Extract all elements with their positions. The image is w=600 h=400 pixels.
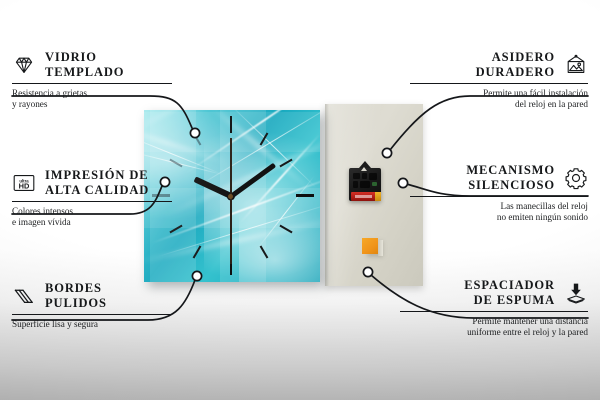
callout-title: ESPACIADOR DE ESPUMA (464, 278, 555, 307)
clock-mechanism (348, 166, 382, 202)
callout-rule (12, 83, 172, 84)
gear-icon (564, 166, 588, 190)
callout-head: ESPACIADOR DE ESPUMA (400, 278, 588, 307)
callout-head: ultra HD IMPRESIÓN DE ALTA CALIDAD (12, 168, 172, 197)
ultra-hd-icon: ultra HD (12, 171, 36, 195)
callout-head: MECANISMO SILENCIOSO (410, 163, 588, 192)
callout-description: Las manecillas del reloj no emiten ningú… (410, 201, 588, 224)
mechanism-detail (360, 181, 370, 188)
callout-rule (400, 311, 588, 312)
callout-title: MECANISMO SILENCIOSO (466, 163, 555, 192)
callout-description: Resistencia a grietas y rayones (12, 88, 172, 111)
callout-description: Superficie lisa y segura (12, 319, 172, 330)
mechanism-detail (353, 173, 360, 179)
callout-description: Permite mantener una distancia uniforme … (400, 316, 588, 339)
callout-vidrio-templado[interactable]: VIDRIO TEMPLADO Resistencia a grietas y … (12, 50, 172, 111)
mechanism-detail (372, 182, 377, 186)
callout-description: Colores intensos e imagen vívida (12, 206, 172, 229)
callout-bordes-pulidos[interactable]: BORDES PULIDOS Superficie lisa y segura (12, 281, 172, 330)
callout-head: BORDES PULIDOS (12, 281, 172, 310)
foam-spacer-side (378, 240, 383, 256)
panel-edge (325, 104, 329, 286)
diamond-icon (12, 53, 36, 77)
mechanism-detail (353, 181, 358, 188)
mechanism-detail (369, 173, 377, 180)
hanger-hole (361, 167, 367, 171)
callout-rule (12, 201, 172, 202)
callout-espaciador-de-espuma[interactable]: ESPACIADOR DE ESPUMA Permite mantener un… (400, 278, 588, 339)
callout-head: VIDRIO TEMPLADO (12, 50, 172, 79)
battery (351, 192, 381, 201)
callout-impresion-alta-calidad[interactable]: ultra HD IMPRESIÓN DE ALTA CALIDAD Color… (12, 168, 172, 229)
callout-head: ASIDERO DURADERO (410, 50, 588, 79)
wall-hanger-icon (564, 53, 588, 77)
callout-rule (410, 196, 588, 197)
foam-spacer (362, 238, 378, 254)
battery-terminal (375, 192, 381, 201)
callout-rule (410, 83, 588, 84)
foam-spacer-icon (564, 281, 588, 305)
callout-title: ASIDERO DURADERO (476, 50, 555, 79)
infographic-canvas: VIDRIO TEMPLADO Resistencia a grietas y … (0, 0, 600, 400)
polished-edges-icon (12, 284, 36, 308)
callout-title: VIDRIO TEMPLADO (45, 50, 124, 79)
callout-description: Permite una fácil instalación del reloj … (410, 88, 588, 111)
callout-rule (12, 314, 172, 315)
svg-text:HD: HD (19, 181, 30, 190)
callout-title: BORDES PULIDOS (45, 281, 107, 310)
mechanism-body (349, 168, 381, 201)
mechanism-detail (362, 173, 367, 179)
callout-title: IMPRESIÓN DE ALTA CALIDAD (45, 168, 149, 197)
callout-mecanismo-silencioso[interactable]: MECANISMO SILENCIOSO Las manecillas del … (410, 163, 588, 224)
battery-label (355, 195, 372, 198)
callout-asidero-duradero[interactable]: ASIDERO DURADERO Permite una fácil insta… (410, 50, 588, 111)
